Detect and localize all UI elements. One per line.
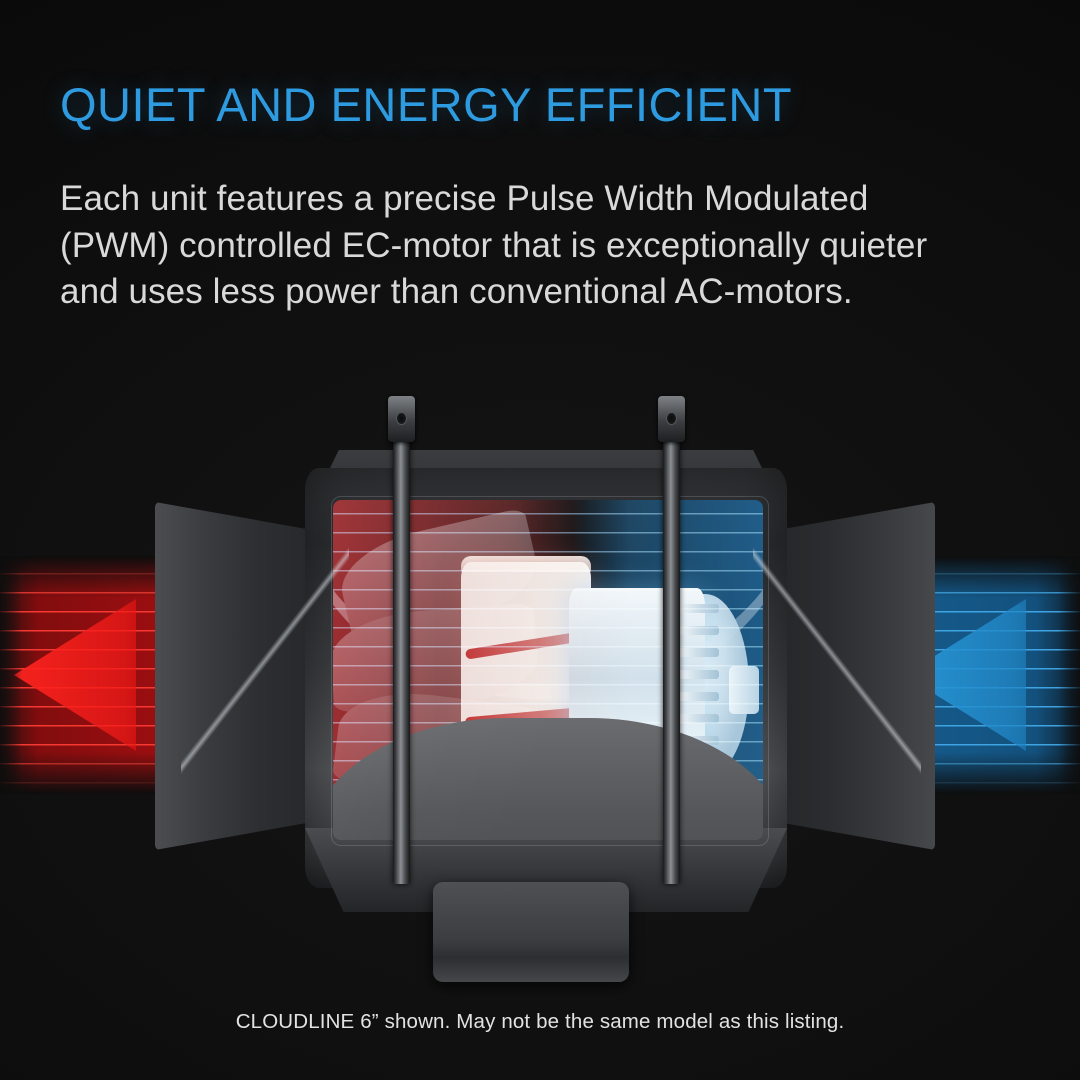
page-title: QUIET AND ENERGY EFFICIENT [60,80,1020,129]
product-image-inline-fan [155,430,935,950]
strap-buckle-right [658,396,685,442]
mounting-strap-left [393,404,410,884]
body-line-1: Each unit features a precise Pulse Width… [60,176,1045,223]
junction-box [433,882,629,982]
mounting-strap-right [663,404,680,884]
strap-buckle-left [388,396,415,442]
body-line-2: (PWM) controlled EC-motor that is except… [60,223,1045,270]
body-paragraph: Each unit features a precise Pulse Width… [60,176,1045,316]
slide-canvas: QUIET AND ENERGY EFFICIENT Each unit fea… [0,0,1080,1080]
disclaimer-footnote: CLOUDLINE 6” shown. May not be the same … [0,1010,1080,1034]
body-line-3: and uses less power than conventional AC… [60,269,1045,316]
